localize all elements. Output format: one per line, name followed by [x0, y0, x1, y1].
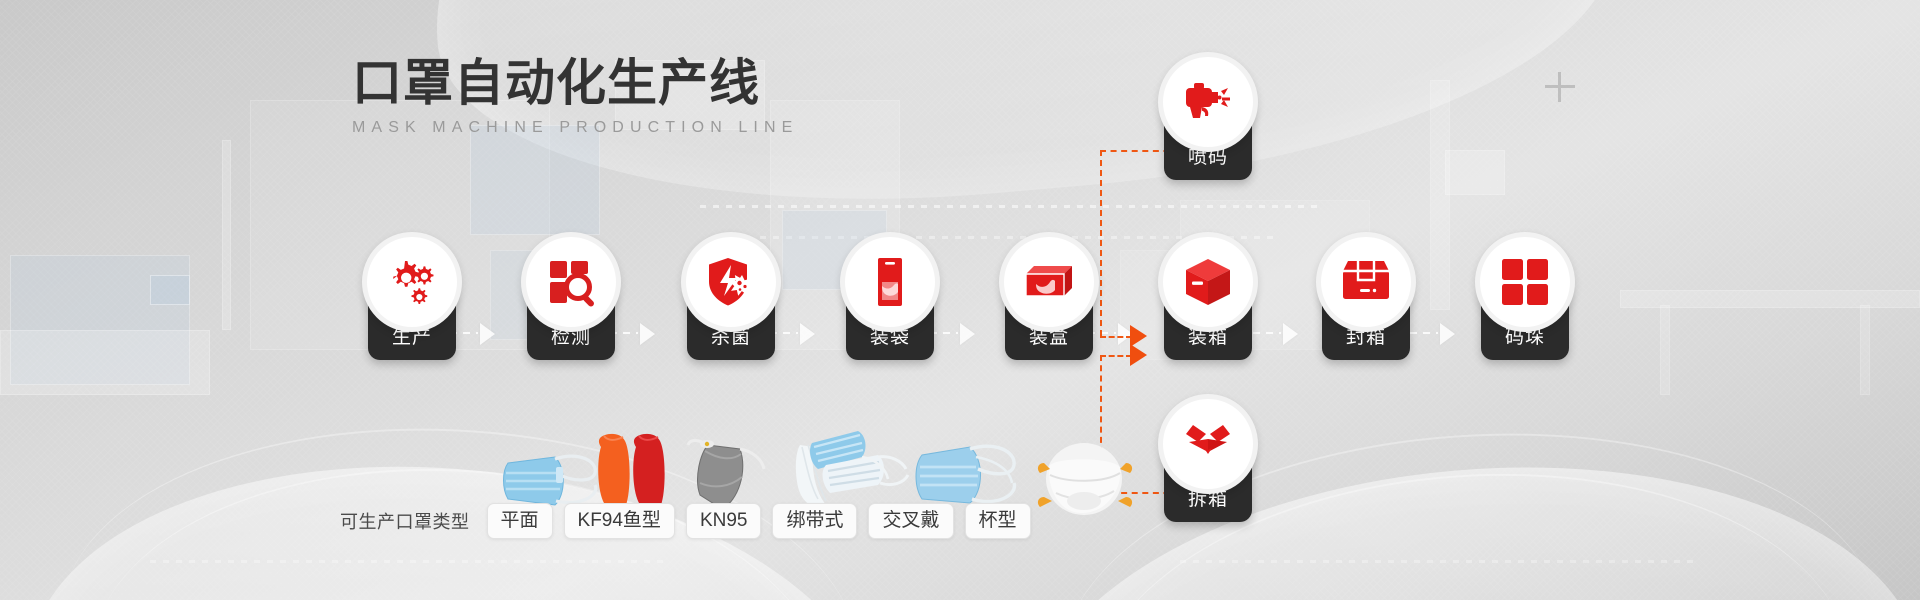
mask-type-tag-cross-wear[interactable]: 交叉戴	[868, 503, 953, 539]
machine-ghost-conveyor	[1620, 290, 1920, 308]
mask-type-tag-cup[interactable]: 杯型	[965, 503, 1031, 539]
node-icon-disc	[521, 232, 621, 332]
branch-line-bottom-into-node	[1100, 355, 1132, 357]
mask-bag-icon	[863, 255, 917, 309]
node-icon-disc	[999, 232, 1099, 332]
page-title: 口罩自动化生产线	[352, 55, 798, 111]
page-subtitle: MASK MACHINE PRODUCTION LINE	[352, 119, 798, 137]
mask-watermark-bottom-right	[1005, 432, 1920, 600]
node-icon-disc	[1158, 232, 1258, 332]
node-icon-disc	[1158, 394, 1258, 494]
shield-bolt-icon	[704, 255, 758, 309]
flow-arrow-2	[640, 323, 655, 345]
mask-type-tag-tie-on[interactable]: 绑带式	[772, 503, 857, 539]
node-icon-disc	[681, 232, 781, 332]
plus-mark-icon	[1545, 72, 1575, 102]
node-icon-disc	[1475, 232, 1575, 332]
pallet-grid-icon	[1500, 257, 1550, 307]
branch-line-top-vertical	[1100, 150, 1102, 336]
mask-types-label: 可生产口罩类型	[340, 508, 470, 534]
mask-types-row: 可生产口罩类型 平面 KF94鱼型 KN95 绑带式 交叉戴 杯型	[340, 503, 1031, 539]
branch-line-top-into-node	[1100, 336, 1132, 338]
machine-ghost-leg-1	[1660, 305, 1670, 395]
cup-mask-image	[1030, 435, 1142, 530]
mask-stitch-dots-top	[700, 205, 1320, 208]
machine-ghost-5	[470, 125, 600, 235]
mask-stitch-dots-bl	[150, 560, 670, 563]
spray-gun-icon	[1181, 75, 1235, 129]
node-icon-disc	[1316, 232, 1416, 332]
flow-arrow-1	[480, 323, 495, 345]
flow-arrow-6	[1283, 323, 1298, 345]
mask-type-tag-kf94[interactable]: KF94鱼型	[564, 503, 675, 539]
machine-ghost-post-2	[1430, 80, 1450, 310]
machine-ghost-1	[10, 255, 190, 385]
branch-arrow-bottom	[1130, 344, 1147, 366]
machine-ghost-2	[0, 330, 210, 395]
flow-arrow-3	[800, 323, 815, 345]
flow-dash-4	[930, 332, 958, 334]
machine-ghost-3	[150, 275, 190, 305]
flow-dash-7	[1410, 332, 1438, 334]
mask-stitch-dots-br	[1180, 560, 1700, 563]
mask-type-tag-kn95[interactable]: KN95	[686, 503, 762, 539]
gears-icon	[385, 255, 439, 309]
banner-heading: 口罩自动化生产线 MASK MACHINE PRODUCTION LINE	[352, 55, 798, 137]
machine-ghost-leg-2	[1860, 305, 1870, 395]
mask-type-tag-flat[interactable]: 平面	[487, 503, 553, 539]
magnifier-grid-icon	[544, 255, 598, 309]
node-icon-disc	[1158, 52, 1258, 152]
closed-box-icon	[1181, 255, 1235, 309]
flow-arrow-7	[1440, 323, 1455, 345]
node-icon-disc	[840, 232, 940, 332]
node-icon-disc	[362, 232, 462, 332]
open-box-icon	[1181, 417, 1235, 471]
flow-arrow-4	[960, 323, 975, 345]
mask-carton-icon	[1021, 254, 1077, 310]
banner-stage: 口罩自动化生产线 MASK MACHINE PRODUCTION LINE 生产	[0, 0, 1920, 600]
flow-dash-6	[1253, 332, 1281, 334]
sealed-carton-icon	[1339, 255, 1393, 309]
machine-ghost-post-1	[222, 140, 231, 330]
machine-ghost-10	[1445, 150, 1505, 195]
